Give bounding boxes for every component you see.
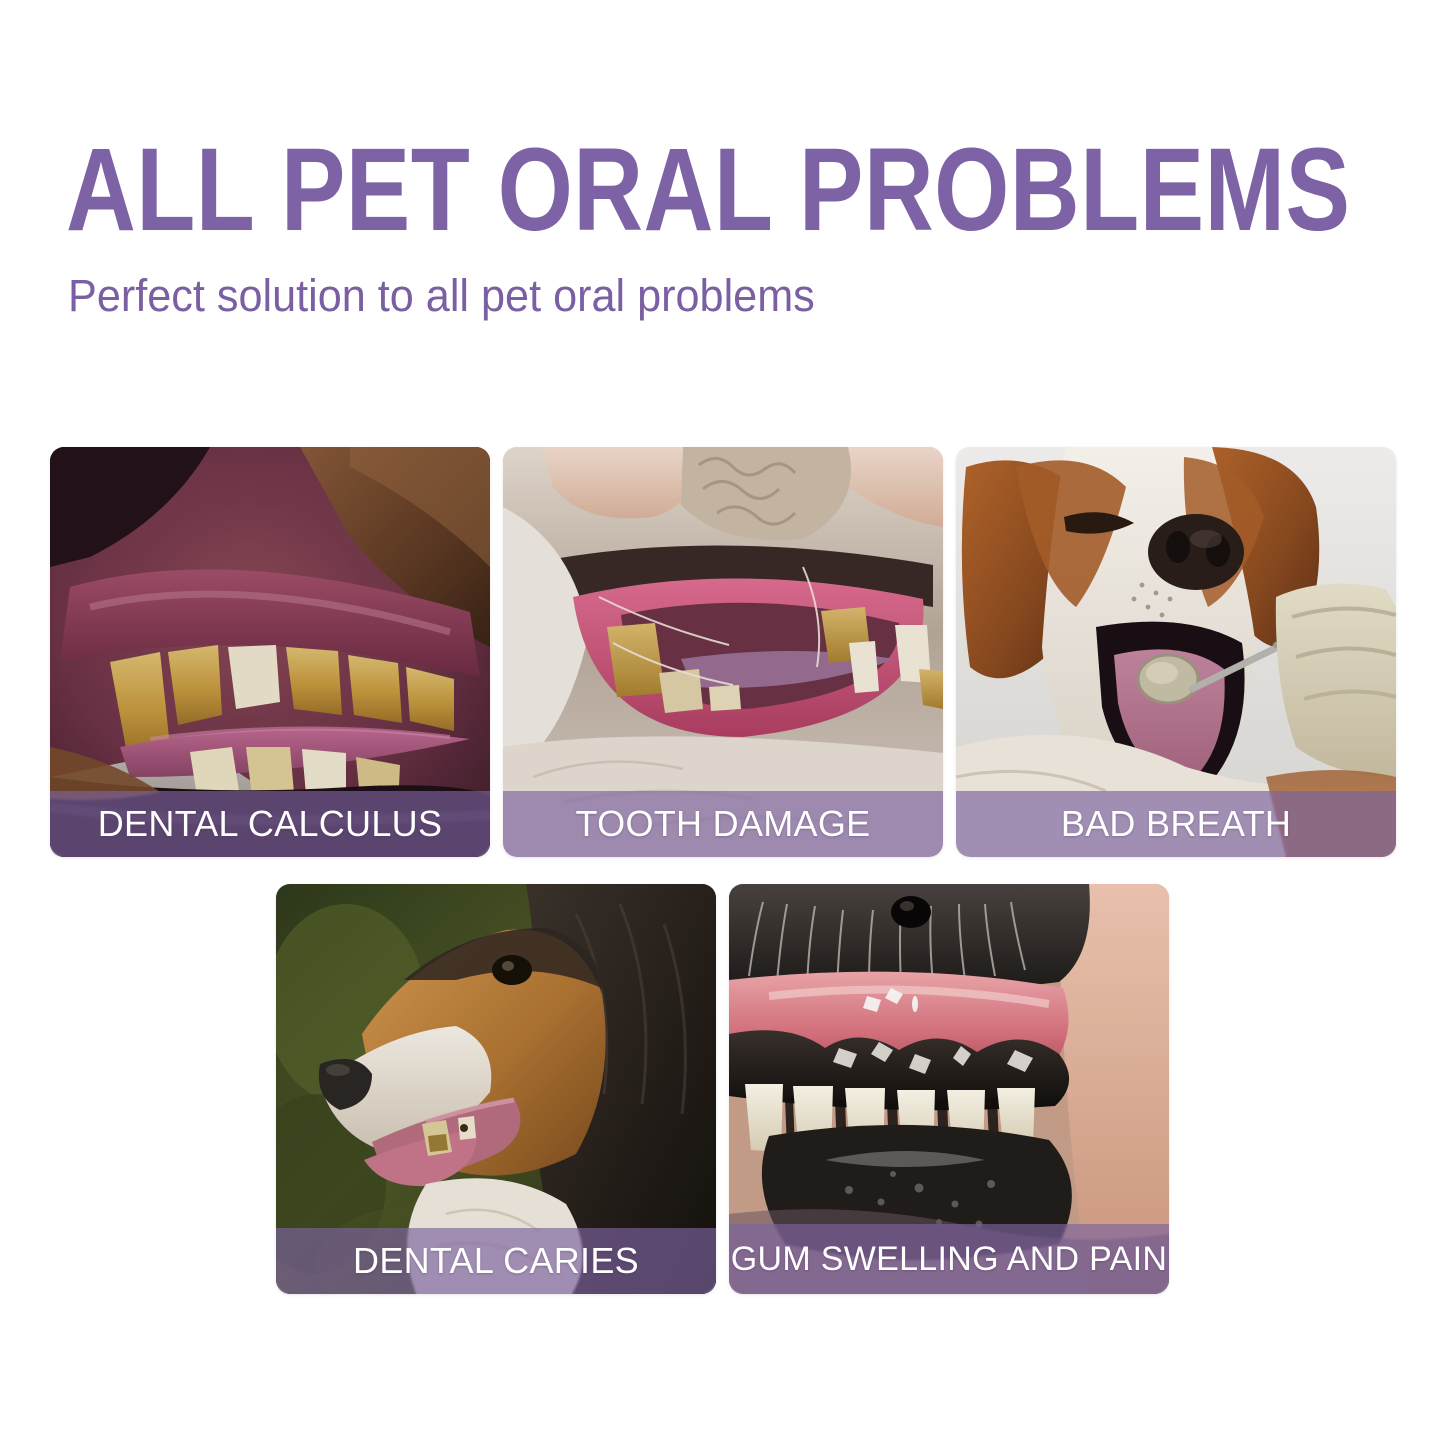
problem-card-dental-caries[interactable]: DENTAL CARIES xyxy=(276,884,716,1294)
card-caption-label: DENTAL CALCULUS xyxy=(98,806,443,842)
card-caption-label: BAD BREATH xyxy=(1061,806,1291,842)
page-subtitle: Perfect solution to all pet oral problem… xyxy=(68,272,815,319)
promo-banner: ALL PET ORAL PROBLEMS Perfect solution t… xyxy=(0,0,1445,1445)
problem-card-gum-swelling[interactable]: GUM SWELLING AND PAIN xyxy=(729,884,1169,1294)
card-caption-label: GUM SWELLING AND PAIN xyxy=(731,1242,1167,1276)
card-caption-label: DENTAL CARIES xyxy=(353,1243,639,1279)
problem-card-tooth-damage[interactable]: TOOTH DAMAGE xyxy=(503,447,943,857)
problem-card-dental-calculus[interactable]: DENTAL CALCULUS xyxy=(50,447,490,857)
card-caption-bar: GUM SWELLING AND PAIN xyxy=(729,1224,1169,1294)
card-caption-bar: TOOTH DAMAGE xyxy=(503,791,943,857)
card-caption-bar: DENTAL CALCULUS xyxy=(50,791,490,857)
card-caption-bar: DENTAL CARIES xyxy=(276,1228,716,1294)
card-caption-bar: BAD BREATH xyxy=(956,791,1396,857)
problem-card-bad-breath[interactable]: BAD BREATH xyxy=(956,447,1396,857)
page-title: ALL PET ORAL PROBLEMS xyxy=(66,140,1350,241)
card-caption-label: TOOTH DAMAGE xyxy=(576,806,871,842)
